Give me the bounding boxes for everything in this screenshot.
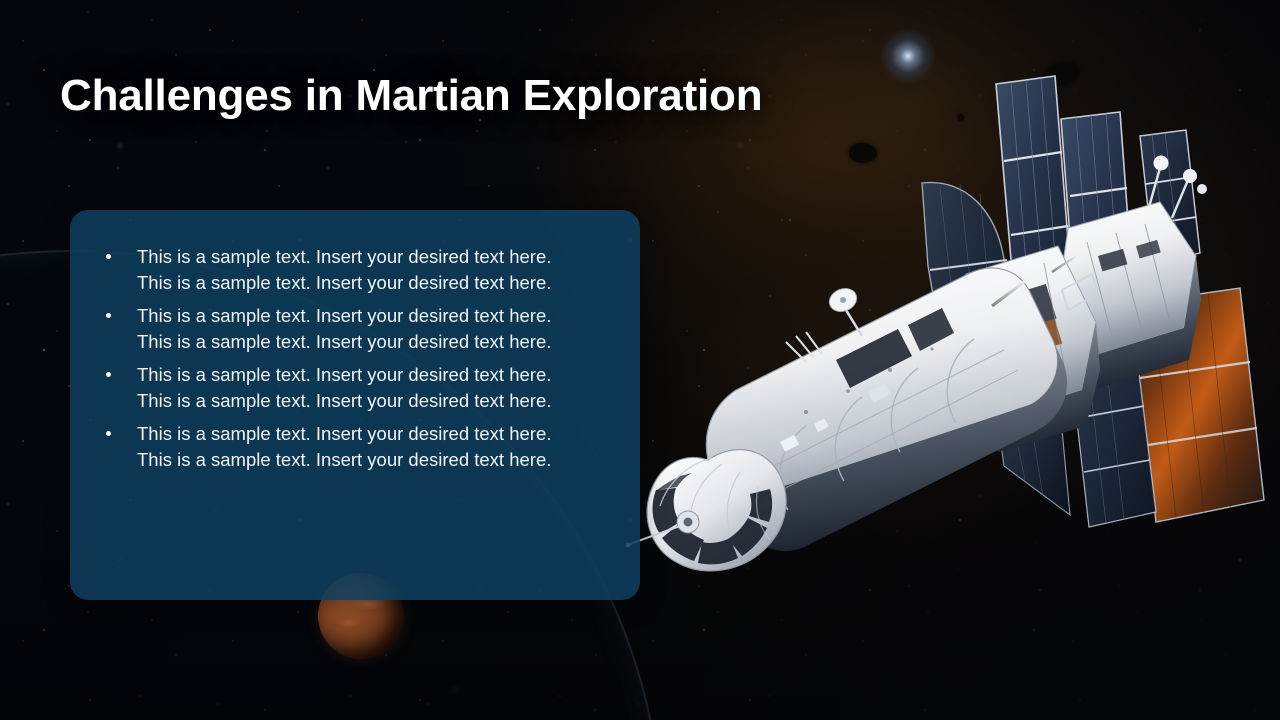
spacecraft-illustration [600, 60, 1280, 620]
bullet-list: This is a sample text. Insert your desir… [100, 244, 610, 472]
bullet-marker-icon [106, 254, 111, 259]
dish-antenna [826, 285, 862, 336]
bullet-marker-icon [106, 372, 111, 377]
content-text-box: This is a sample text. Insert your desir… [70, 210, 640, 600]
slide-title: Challenges in Martian Exploration [60, 69, 880, 123]
bullet-marker-icon [106, 313, 111, 318]
bullet-text: This is a sample text. Insert your desir… [137, 421, 562, 472]
forward-dome-nose [626, 450, 787, 571]
bullet-item: This is a sample text. Insert your desir… [100, 303, 610, 354]
bullet-item: This is a sample text. Insert your desir… [100, 421, 610, 472]
bullet-marker-icon [106, 431, 111, 436]
bullet-item: This is a sample text. Insert your desir… [100, 362, 610, 413]
bullet-text: This is a sample text. Insert your desir… [137, 362, 562, 413]
bullet-text: This is a sample text. Insert your desir… [137, 303, 562, 354]
bullet-text: This is a sample text. Insert your desir… [137, 244, 562, 295]
presentation-slide: Challenges in Martian Exploration This i… [0, 0, 1280, 720]
bullet-item: This is a sample text. Insert your desir… [100, 244, 610, 295]
